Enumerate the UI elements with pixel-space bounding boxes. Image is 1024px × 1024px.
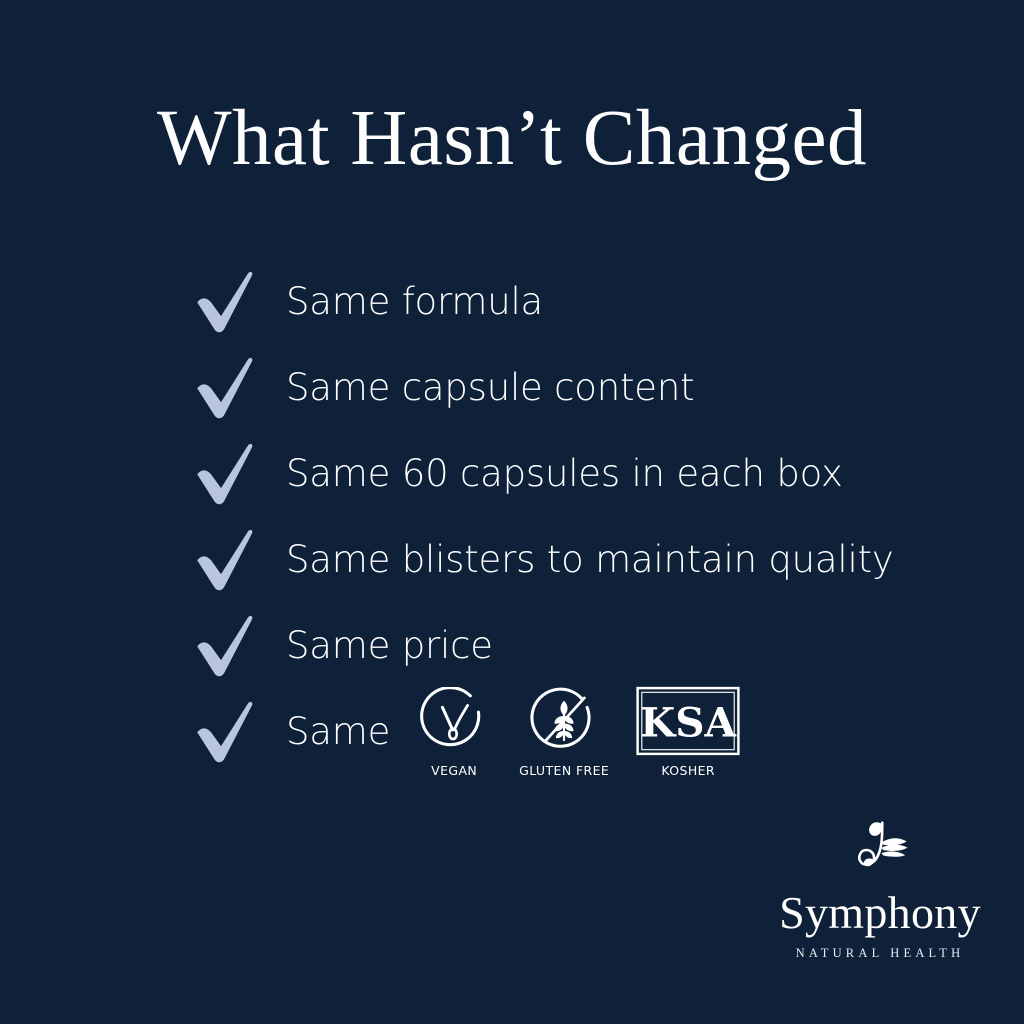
vegan-icon: [420, 687, 488, 755]
check-icon: [192, 612, 258, 678]
check-icon: [192, 526, 258, 592]
check-icon: [192, 354, 258, 420]
certification-badge-gluten-free: GLUTEN FREE: [518, 685, 610, 778]
kosher-badge-art: KSA: [635, 685, 741, 757]
page-title: What Hasn’t Changed: [0, 96, 1024, 181]
list-item-label: Same 60 capsules in each box: [286, 455, 843, 492]
list-item: Same blisters to maintain quality: [192, 516, 952, 602]
check-icon: [192, 268, 258, 334]
logo-wordmark: Symphony: [779, 890, 981, 936]
logo-tagline: NATURAL HEALTH: [796, 946, 965, 961]
certification-caption: KOSHER: [661, 763, 715, 778]
vegan-badge-art: [420, 685, 488, 757]
kosher-ksa-icon: KSA: [635, 686, 741, 756]
checklist: Same formula Same capsule content Same 6…: [192, 258, 952, 774]
list-item: Same formula: [192, 258, 952, 344]
certification-caption: GLUTEN FREE: [519, 763, 609, 778]
symphony-leaf-mark-icon: [842, 812, 918, 888]
list-item-label: Same formula: [286, 283, 543, 320]
certification-badge-vegan: VEGAN: [412, 685, 496, 778]
certification-badges: VEGAN: [412, 685, 744, 778]
certification-badge-kosher: KSA KOSHER: [632, 685, 744, 778]
check-icon: [192, 698, 258, 764]
brand-logo: Symphony NATURAL HEALTH: [760, 812, 1000, 961]
list-item: Same price: [192, 602, 952, 688]
list-item-label: Same capsule content: [286, 369, 694, 406]
gluten-free-icon: [530, 687, 598, 755]
list-item: Same capsule content: [192, 344, 952, 430]
list-item-label: Same blisters to maintain quality: [286, 541, 894, 578]
certification-caption: VEGAN: [431, 763, 477, 778]
poster-canvas: What Hasn’t Changed Same formula Same ca…: [0, 0, 1024, 1024]
check-icon: [192, 440, 258, 506]
list-item-label: Same: [286, 713, 390, 750]
list-item-certifications: Same VEGAN: [192, 688, 952, 774]
gluten-free-badge-art: [530, 685, 598, 757]
list-item-label: Same price: [286, 627, 493, 664]
kosher-mark-text: KSA: [640, 698, 737, 746]
list-item: Same 60 capsules in each box: [192, 430, 952, 516]
